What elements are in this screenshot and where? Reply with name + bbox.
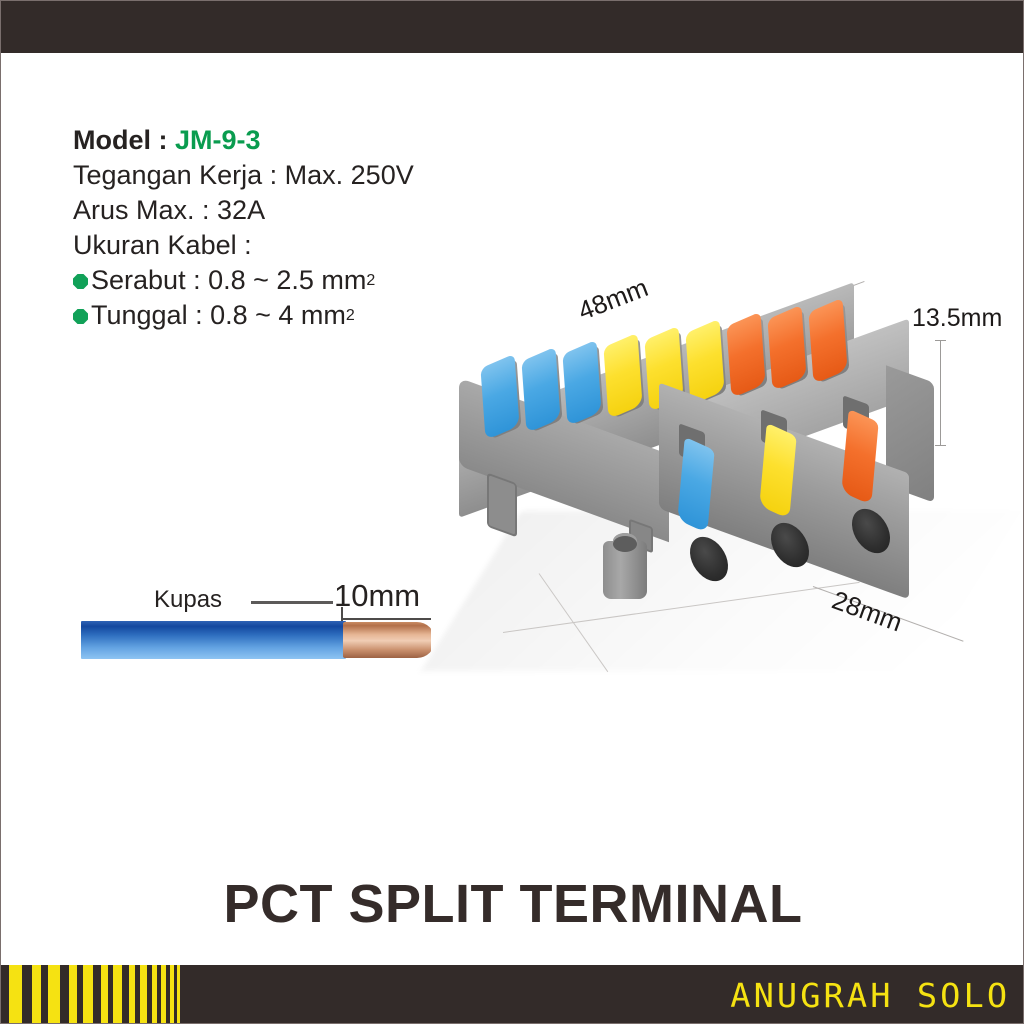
strip-leader-line bbox=[251, 601, 333, 604]
barcode-stripe bbox=[101, 965, 108, 1024]
bracket-bar bbox=[341, 618, 436, 620]
current-line: Arus Max. : 32A bbox=[73, 193, 543, 228]
barcode-stripe bbox=[113, 965, 122, 1024]
wire-copper-core bbox=[343, 622, 435, 658]
wire-insulation bbox=[81, 621, 346, 659]
voltage-line: Tegangan Kerja : Max. 250V bbox=[73, 158, 543, 193]
barcode-stripe bbox=[9, 965, 22, 1024]
product-title: PCT SPLIT TERMINAL bbox=[1, 873, 1024, 935]
strip-dimension-bracket bbox=[341, 607, 436, 621]
green-octagon-bullet-icon bbox=[73, 309, 88, 324]
side-mounting-slot bbox=[487, 473, 517, 538]
barcode-stripe bbox=[170, 965, 174, 1024]
bullet-solid-text: Tunggal : 0.8 ~ 4 mm bbox=[91, 298, 346, 333]
barcode-decoration bbox=[9, 965, 183, 1024]
green-octagon-bullet-icon bbox=[73, 274, 88, 289]
strip-label: Kupas bbox=[154, 586, 222, 614]
top-band bbox=[1, 1, 1024, 53]
barcode-stripe bbox=[140, 965, 147, 1024]
model-label: Model : bbox=[73, 125, 168, 155]
barcode-stripe bbox=[129, 965, 135, 1024]
brand-logo-text: ANUGRAH SOLO bbox=[730, 965, 1010, 1024]
barcode-stripe bbox=[152, 965, 157, 1024]
barcode-stripe bbox=[48, 965, 60, 1024]
height-dimension-line bbox=[940, 340, 941, 446]
height-dimension-label: 13.5mm bbox=[912, 304, 1002, 333]
product-photo: 48mm 13.5mm bbox=[431, 256, 1024, 686]
barcode-stripe bbox=[161, 965, 166, 1024]
bullet-stranded-text: Serabut : 0.8 ~ 2.5 mm bbox=[91, 263, 366, 298]
barcode-stripe bbox=[177, 965, 180, 1024]
mounting-post-hole bbox=[613, 536, 637, 552]
model-line: Model : JM-9-3 bbox=[73, 123, 543, 158]
barcode-stripe bbox=[32, 965, 41, 1024]
barcode-stripe bbox=[69, 965, 77, 1024]
product-infographic: Model : JM-9-3 Tegangan Kerja : Max. 250… bbox=[0, 0, 1024, 1024]
model-value: JM-9-3 bbox=[175, 125, 261, 155]
barcode-stripe bbox=[83, 965, 93, 1024]
